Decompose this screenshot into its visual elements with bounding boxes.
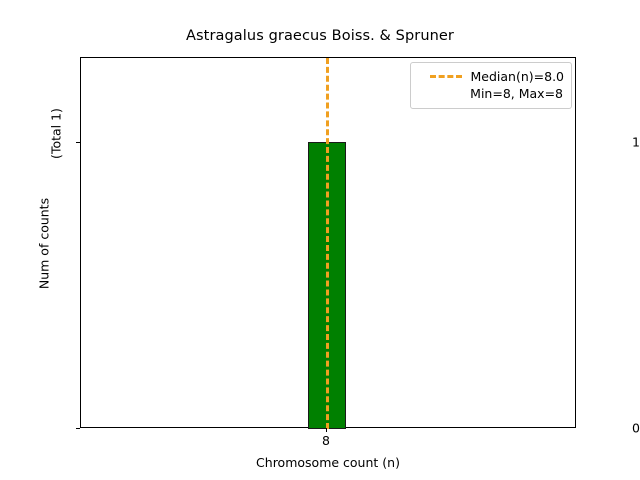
legend-entry-median: Median(n)=8.0 [418, 68, 564, 85]
y-tick-mark-0 [76, 428, 80, 429]
chart-title: Astragalus graecus Boiss. & Spruner [0, 28, 640, 44]
chart-figure: Astragalus graecus Boiss. & Spruner Num … [0, 0, 640, 480]
x-tick-mark-8 [326, 428, 327, 432]
x-tick-label-8: 8 [322, 433, 330, 448]
plot-area [80, 57, 576, 428]
y-tick-label-0: 0 [566, 421, 640, 436]
legend: Median(n)=8.0 Min=8, Max=8 [410, 62, 572, 109]
y-tick-label-1: 1 [566, 135, 640, 150]
x-axis-label: Chromosome count (n) [80, 455, 576, 470]
legend-entry-minmax: Min=8, Max=8 [418, 85, 564, 102]
dashed-line-icon [430, 75, 462, 78]
legend-label-minmax: Min=8, Max=8 [470, 86, 563, 101]
y-axis-label-line2: (Total 1) [49, 44, 64, 224]
legend-label-median: Median(n)=8.0 [471, 69, 565, 84]
median-line [326, 58, 329, 429]
